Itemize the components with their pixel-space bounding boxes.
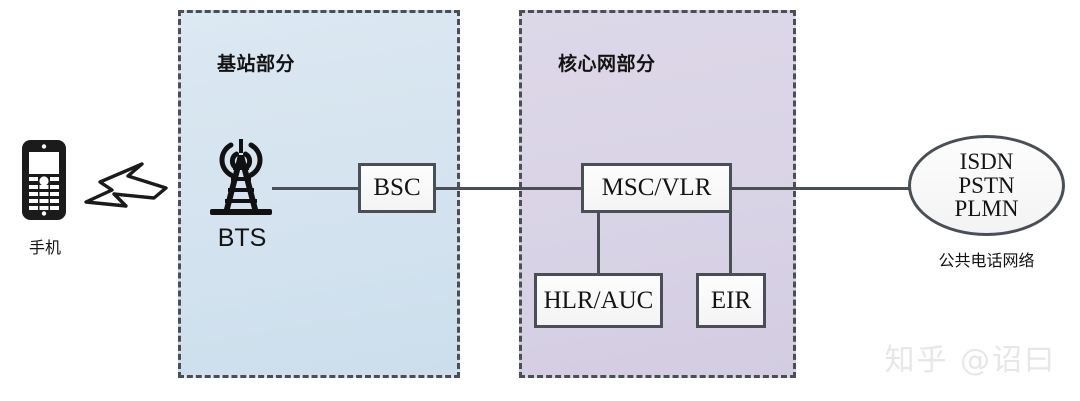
zone-base-station-title: 基站部分 [217, 49, 295, 76]
node-hlr-auc[interactable]: HLR/AUC [534, 273, 663, 328]
node-msc-vlr[interactable]: MSC/VLR [581, 163, 732, 213]
watermark: 知乎 @诏曰 [884, 335, 1056, 379]
node-msc-vlr-label: MSC/VLR [602, 174, 712, 202]
node-bsc[interactable]: BSC [358, 163, 436, 213]
bts-label: BTS [196, 224, 288, 253]
node-public-network[interactable]: ISDN PSTN PLMN [908, 135, 1065, 236]
link-msc-to-hlr [597, 210, 600, 276]
public-network-label: 公共电话网络 [908, 247, 1065, 271]
pstn-line-plmn: PLMN [955, 197, 1019, 220]
node-bsc-label: BSC [373, 174, 420, 202]
node-eir[interactable]: EIR [696, 273, 766, 328]
node-eir-label: EIR [711, 287, 751, 315]
link-msc-to-eir [729, 210, 732, 276]
cell-tower-icon [202, 133, 280, 223]
node-hlr-auc-label: HLR/AUC [544, 287, 654, 315]
link-bsc-to-msc [433, 187, 584, 190]
mobile-phone-label: 手机 [0, 234, 90, 258]
pstn-line-isdn: ISDN [960, 150, 1014, 173]
link-bts-to-bsc [272, 187, 362, 190]
zone-core-network-title: 核心网部分 [558, 49, 656, 76]
pstn-line-pstn: PSTN [958, 174, 1014, 197]
lightning-bolt-icon [82, 160, 168, 210]
diagram-canvas: 基站部分 核心网部分 [0, 0, 1080, 401]
mobile-phone-icon [22, 140, 66, 220]
link-msc-to-pstn [729, 187, 911, 190]
